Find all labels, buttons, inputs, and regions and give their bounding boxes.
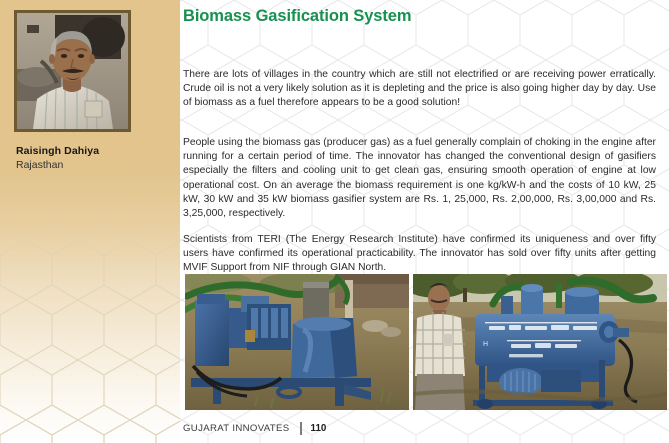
figure-gallery: H — [185, 274, 667, 410]
paragraph-validation: Scientists from TERI (The Energy Researc… — [183, 233, 656, 276]
innovator-portrait-image — [17, 13, 128, 129]
innovator-with-gasifier-photo: H — [413, 274, 667, 410]
sidebar: Raisingh Dahiya Rajasthan — [0, 0, 180, 443]
figure-gasifier-machine — [185, 274, 409, 410]
innovator-name: Raisingh Dahiya — [16, 145, 99, 157]
paragraph-intro: There are lots of villages in the countr… — [183, 68, 656, 111]
footer-divider — [300, 422, 302, 435]
avatar — [14, 10, 131, 132]
footer-brand: GUJARAT INNOVATES — [183, 423, 290, 434]
biomass-gasifier-machine-photo — [185, 274, 409, 410]
footer: GUJARAT INNOVATES 110 — [183, 420, 326, 436]
svg-text:H: H — [483, 341, 488, 348]
paragraph-innovation: People using the biomass gas (producer g… — [183, 136, 656, 221]
page-root: Raisingh Dahiya Rajasthan Biomass Gasifi… — [0, 0, 669, 443]
page-number: 110 — [311, 423, 327, 434]
main-content: Biomass Gasification System There are lo… — [183, 0, 669, 443]
page-title: Biomass Gasification System — [183, 7, 411, 26]
figure-innovator-with-gasifier: H — [413, 274, 667, 410]
innovator-state: Rajasthan — [16, 159, 63, 171]
